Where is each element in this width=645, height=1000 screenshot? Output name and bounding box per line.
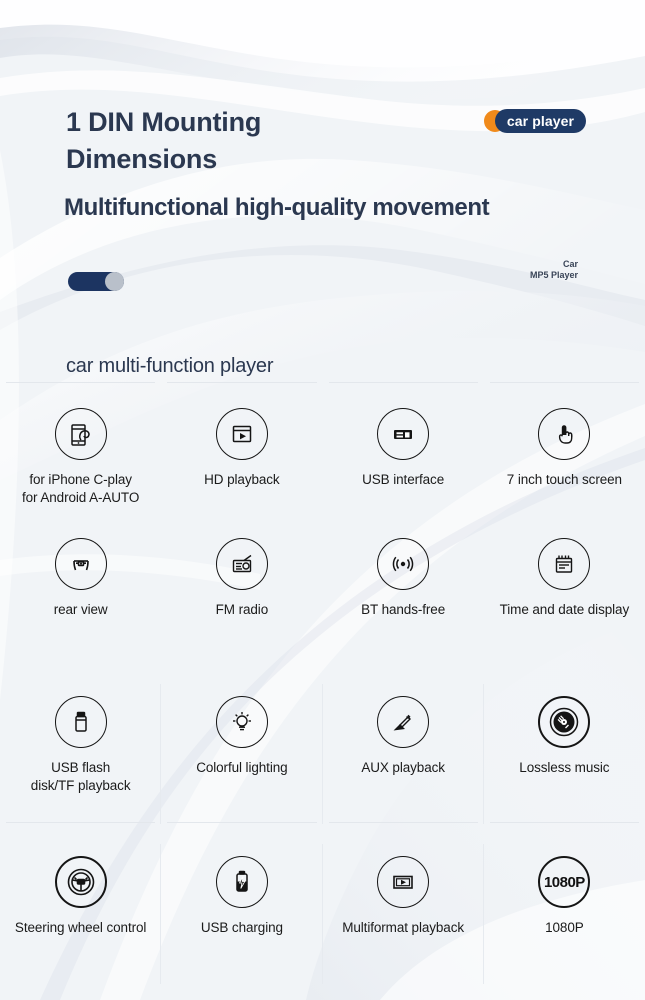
feature-label: AUX playback xyxy=(361,759,445,777)
row-divider-bottom xyxy=(0,822,645,823)
feature-label: rear view xyxy=(54,601,108,619)
resolution-1080p-icon: 1080P xyxy=(538,856,590,908)
feature-label: HD playback xyxy=(204,471,279,489)
logo-label: car player xyxy=(495,109,586,133)
divider-segment xyxy=(6,822,155,823)
usb-port-icon xyxy=(377,408,429,460)
calendar-clock-icon xyxy=(538,538,590,590)
rear-view-camera-icon xyxy=(55,538,107,590)
divider-segment xyxy=(167,822,316,823)
feature-label: Colorful lighting xyxy=(196,759,287,777)
usb-flash-drive-icon xyxy=(55,696,107,748)
feature-label: USB charging xyxy=(201,919,283,937)
fm-radio-icon xyxy=(216,538,268,590)
feature-grid: for iPhone C-play for Android A-AUTO HD … xyxy=(0,400,645,990)
divider-segment xyxy=(329,822,478,823)
feature-cell-1080p[interactable]: 1080P 1080P xyxy=(484,830,645,990)
product-corner-label: Car MP5 Player xyxy=(530,259,578,281)
feature-cell-rear-view[interactable]: rear view xyxy=(0,530,161,670)
feature-cell-aux-playback[interactable]: AUX playback xyxy=(323,670,484,830)
feature-cell-multiformat[interactable]: Multiformat playback xyxy=(323,830,484,990)
battery-charging-icon xyxy=(216,856,268,908)
toggle-knob xyxy=(105,272,124,291)
divider-segment xyxy=(490,382,639,383)
feature-cell-usb-interface[interactable]: USB interface xyxy=(323,400,484,530)
feature-label: USB flash disk/TF playback xyxy=(31,759,131,795)
feature-label: BT hands-free xyxy=(361,601,445,619)
feature-cell-usb-flash[interactable]: USB flash disk/TF playback xyxy=(0,670,161,830)
divider-segment xyxy=(329,382,478,383)
feature-cell-lossless-music[interactable]: Lossless music xyxy=(484,670,645,830)
video-window-play-icon xyxy=(216,408,268,460)
feature-label: Lossless music xyxy=(519,759,609,777)
phone-carplay-icon xyxy=(55,408,107,460)
feature-cell-carplay[interactable]: for iPhone C-play for Android A-AUTO xyxy=(0,400,161,530)
feature-label: Steering wheel control xyxy=(15,919,146,937)
vinyl-disc-icon xyxy=(538,696,590,748)
bluetooth-signal-icon xyxy=(377,538,429,590)
divider-segment xyxy=(6,382,155,383)
feature-label: FM radio xyxy=(216,601,268,619)
feature-cell-usb-charging[interactable]: USB charging xyxy=(161,830,322,990)
resolution-icon-label: 1080P xyxy=(544,874,585,891)
feature-row: Steering wheel control USB charging xyxy=(0,830,645,990)
feature-cell-steering-wheel[interactable]: Steering wheel control xyxy=(0,830,161,990)
feature-row: for iPhone C-play for Android A-AUTO HD … xyxy=(0,400,645,530)
feature-cell-fm-radio[interactable]: FM radio xyxy=(161,530,322,670)
page-subtitle: Multifunctional high-quality movement xyxy=(64,192,489,224)
feature-label: Multiformat playback xyxy=(342,919,464,937)
feature-label: for iPhone C-play for Android A-AUTO xyxy=(22,471,139,507)
steering-wheel-icon xyxy=(55,856,107,908)
feature-cell-touch-screen[interactable]: 7 inch touch screen xyxy=(484,400,645,530)
feature-cell-hd-playback[interactable]: HD playback xyxy=(161,400,322,530)
light-bulb-icon xyxy=(216,696,268,748)
brand-logo: car player xyxy=(484,109,586,133)
row-divider-top xyxy=(0,382,645,383)
feature-cell-colorful-lighting[interactable]: Colorful lighting xyxy=(161,670,322,830)
divider-segment xyxy=(167,382,316,383)
media-play-frame-icon xyxy=(377,856,429,908)
feature-row: rear view FM radio xyxy=(0,530,645,670)
header-section: 1 DIN Mounting Dimensions Multifunctiona… xyxy=(0,0,645,330)
feature-cell-bt-hands-free[interactable]: BT hands-free xyxy=(323,530,484,670)
feature-label: 1080P xyxy=(545,919,584,937)
section-heading: car multi-function player xyxy=(66,355,273,378)
decorative-toggle-switch[interactable] xyxy=(68,272,124,291)
feature-label: USB interface xyxy=(362,471,444,489)
feature-label: 7 inch touch screen xyxy=(507,471,622,489)
feature-label: Time and date display xyxy=(500,601,629,619)
page-title: 1 DIN Mounting Dimensions xyxy=(66,104,261,178)
touch-hand-icon xyxy=(538,408,590,460)
divider-segment xyxy=(490,822,639,823)
feature-row: USB flash disk/TF playback Colorful ligh… xyxy=(0,670,645,830)
page-title-block: 1 DIN Mounting Dimensions xyxy=(66,104,261,178)
feature-cell-time-date[interactable]: Time and date display xyxy=(484,530,645,670)
aux-jack-icon xyxy=(377,696,429,748)
